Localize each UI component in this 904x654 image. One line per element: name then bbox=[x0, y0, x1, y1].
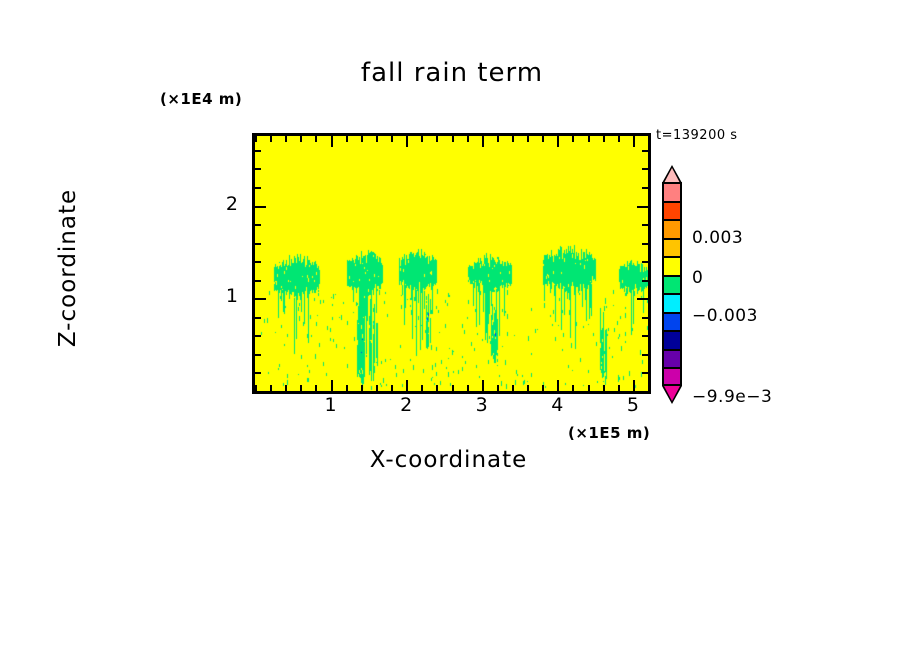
tick-mark bbox=[642, 354, 648, 356]
tick-mark bbox=[648, 136, 650, 142]
tick-mark bbox=[637, 298, 648, 300]
tick-mark bbox=[642, 372, 648, 374]
colorbar-band bbox=[662, 293, 682, 312]
colorbar-tick-label: 0.003 bbox=[692, 228, 743, 248]
tick-mark bbox=[361, 385, 363, 391]
tick-mark bbox=[406, 136, 408, 147]
tick-mark bbox=[346, 136, 348, 142]
tick-mark bbox=[633, 136, 635, 147]
tick-mark bbox=[467, 385, 469, 391]
colorbar-band bbox=[662, 349, 682, 368]
tick-mark bbox=[376, 385, 378, 391]
tick-mark bbox=[361, 136, 363, 142]
colorbar-top-arrow-icon bbox=[662, 165, 682, 183]
tick-mark bbox=[642, 150, 648, 152]
tick-mark bbox=[255, 261, 261, 263]
x-tick-label: 2 bbox=[386, 394, 426, 416]
tick-mark bbox=[436, 136, 438, 142]
colorbar-band bbox=[662, 201, 682, 220]
tick-mark bbox=[300, 136, 302, 142]
tick-mark bbox=[527, 136, 529, 142]
tick-mark bbox=[482, 380, 484, 391]
figure-root: fall rain term (×1E4 m) t=139200 s 12345… bbox=[0, 0, 904, 654]
tick-mark bbox=[633, 380, 635, 391]
tick-mark bbox=[315, 136, 317, 142]
tick-mark bbox=[648, 385, 650, 391]
tick-mark bbox=[603, 385, 605, 391]
tick-mark bbox=[603, 136, 605, 142]
tick-mark bbox=[452, 136, 454, 142]
tick-mark bbox=[255, 335, 261, 337]
tick-mark bbox=[467, 136, 469, 142]
tick-mark bbox=[642, 168, 648, 170]
tick-mark bbox=[391, 136, 393, 142]
x-axis-unit-label: (×1E5 m) bbox=[568, 424, 650, 442]
colorbar-band bbox=[662, 367, 682, 386]
tick-mark bbox=[588, 136, 590, 142]
y-axis-label: Z-coordinate bbox=[55, 148, 81, 388]
colorbar-tick-label: −0.003 bbox=[692, 306, 758, 326]
tick-mark bbox=[255, 372, 261, 374]
tick-mark bbox=[642, 335, 648, 337]
tick-mark bbox=[512, 385, 514, 391]
tick-mark bbox=[618, 385, 620, 391]
timestamp-annotation: t=139200 s bbox=[656, 128, 738, 143]
tick-mark bbox=[331, 380, 333, 391]
x-tick-label: 3 bbox=[462, 394, 502, 416]
tick-mark bbox=[285, 385, 287, 391]
tick-mark bbox=[421, 385, 423, 391]
tick-mark bbox=[285, 136, 287, 142]
rain-field-heatmap bbox=[255, 136, 648, 391]
tick-mark bbox=[255, 298, 266, 300]
tick-mark bbox=[572, 136, 574, 142]
x-tick-label: 5 bbox=[613, 394, 653, 416]
tick-mark bbox=[255, 391, 261, 393]
colorbar-band bbox=[662, 275, 682, 294]
tick-mark bbox=[642, 243, 648, 245]
tick-mark bbox=[255, 224, 261, 226]
x-tick-label: 4 bbox=[537, 394, 577, 416]
tick-mark bbox=[497, 385, 499, 391]
x-tick-label: 1 bbox=[311, 394, 351, 416]
tick-mark bbox=[618, 136, 620, 142]
tick-mark bbox=[406, 380, 408, 391]
colorbar-tick-label: 0 bbox=[692, 268, 703, 288]
tick-mark bbox=[255, 206, 266, 208]
tick-mark bbox=[255, 280, 261, 282]
colorbar-band bbox=[662, 238, 682, 257]
tick-mark bbox=[255, 243, 261, 245]
tick-mark bbox=[642, 187, 648, 189]
tick-mark bbox=[542, 385, 544, 391]
tick-mark bbox=[642, 261, 648, 263]
tick-mark bbox=[270, 136, 272, 142]
colorbar-band bbox=[662, 330, 682, 349]
y-axis-unit-label: (×1E4 m) bbox=[160, 90, 242, 108]
tick-mark bbox=[512, 136, 514, 142]
y-tick-label: 2 bbox=[212, 193, 238, 215]
x-axis-label: X-coordinate bbox=[252, 447, 645, 473]
tick-mark bbox=[557, 136, 559, 147]
chart-title: fall rain term bbox=[0, 58, 904, 88]
colorbar bbox=[662, 182, 682, 386]
tick-mark bbox=[642, 280, 648, 282]
tick-mark bbox=[346, 385, 348, 391]
tick-mark bbox=[255, 317, 261, 319]
colorbar-cap-fill bbox=[664, 386, 680, 401]
tick-mark bbox=[642, 224, 648, 226]
plot-area bbox=[252, 133, 651, 394]
colorbar-cap-fill bbox=[664, 168, 680, 183]
tick-mark bbox=[542, 136, 544, 142]
tick-mark bbox=[482, 136, 484, 147]
colorbar-band bbox=[662, 312, 682, 331]
colorbar-band bbox=[662, 256, 682, 275]
tick-mark bbox=[527, 385, 529, 391]
tick-mark bbox=[255, 150, 261, 152]
y-tick-label: 1 bbox=[212, 285, 238, 307]
tick-mark bbox=[497, 136, 499, 142]
tick-mark bbox=[270, 385, 272, 391]
tick-mark bbox=[331, 136, 333, 147]
tick-mark bbox=[642, 317, 648, 319]
colorbar-band bbox=[662, 182, 682, 201]
tick-mark bbox=[421, 136, 423, 142]
tick-mark bbox=[642, 391, 648, 393]
tick-mark bbox=[315, 385, 317, 391]
tick-mark bbox=[255, 136, 257, 142]
tick-mark bbox=[452, 385, 454, 391]
tick-mark bbox=[572, 385, 574, 391]
tick-mark bbox=[255, 354, 261, 356]
tick-mark bbox=[557, 380, 559, 391]
tick-mark bbox=[376, 136, 378, 142]
colorbar-bottom-arrow-icon bbox=[662, 386, 682, 404]
tick-mark bbox=[300, 385, 302, 391]
tick-mark bbox=[255, 168, 261, 170]
colorbar-band bbox=[662, 219, 682, 238]
tick-mark bbox=[436, 385, 438, 391]
tick-mark bbox=[255, 187, 261, 189]
tick-mark bbox=[588, 385, 590, 391]
colorbar-tick-label: −9.9e−3 bbox=[692, 387, 772, 407]
tick-mark bbox=[391, 385, 393, 391]
tick-mark bbox=[637, 206, 648, 208]
